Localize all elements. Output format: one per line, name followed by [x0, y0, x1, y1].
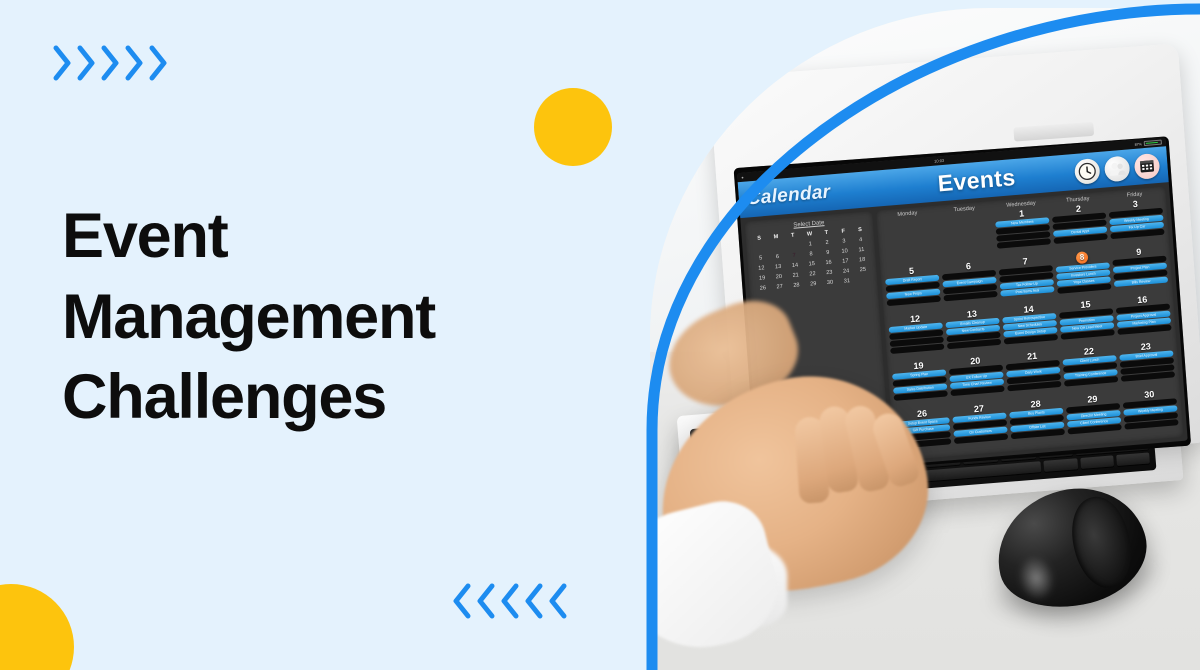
chevron-right-icon: [124, 44, 146, 82]
mini-calendar-dow: S: [751, 234, 768, 243]
chevron-left-icon: [476, 582, 498, 620]
day-cell[interactable]: 9Project PlanBills Review: [1112, 244, 1169, 294]
day-cell[interactable]: [938, 211, 995, 261]
day-cell[interactable]: 16Project ApprovalMarketing Plan: [1115, 292, 1172, 342]
people-icon[interactable]: [1104, 155, 1131, 182]
mini-calendar-day[interactable]: 15: [803, 260, 820, 269]
day-cell[interactable]: 23Brief Approval: [1119, 340, 1176, 390]
mini-calendar-blank: .: [768, 242, 785, 251]
page-title: Event Management Challenges: [62, 196, 582, 438]
weeks-container: 1New Members2Dental Appt3Weekly MeetingF…: [881, 197, 1179, 457]
mini-calendar-day[interactable]: 29: [805, 280, 822, 289]
chevron-left-group: [452, 582, 570, 620]
battery-label: 87%: [1135, 142, 1142, 147]
header-icon-group: [1074, 152, 1161, 184]
mini-calendar-day[interactable]: 10: [836, 247, 853, 256]
mini-calendar-day[interactable]: 24: [837, 267, 854, 276]
day-cell[interactable]: 12Market Update: [888, 311, 945, 361]
calendar-grid-icon[interactable]: [1134, 152, 1161, 179]
battery-icon: [1144, 140, 1162, 146]
chevron-right-icon: [100, 44, 122, 82]
mini-calendar-day[interactable]: 23: [821, 268, 838, 277]
day-cell[interactable]: 8Service ProvidersInvestors LunchYoga Cl…: [1055, 249, 1112, 299]
mini-calendar-day[interactable]: 8: [802, 250, 819, 259]
day-cell[interactable]: 14Sprint RetrospectiveNew SchedulesEvent…: [1001, 302, 1058, 352]
chevron-right-icon: [76, 44, 98, 82]
day-cell[interactable]: 21Daily Work: [1005, 349, 1062, 399]
mini-calendar-day[interactable]: 18: [854, 255, 871, 264]
mini-calendar-dow: F: [835, 227, 852, 236]
decorative-circle-top: [534, 88, 612, 166]
day-cell[interactable]: 3Weekly MeetingFix Up Car: [1108, 197, 1165, 247]
app-title-calendar: Calendar: [746, 177, 879, 210]
mini-calendar-dow: W: [801, 230, 818, 239]
mini-calendar-day[interactable]: 13: [770, 262, 787, 271]
day-cell[interactable]: 2Dental Appt: [1051, 202, 1108, 252]
mini-calendar-day[interactable]: 11: [853, 245, 870, 254]
day-cell[interactable]: 7Tax Follow UpPost Items Assi: [998, 254, 1055, 304]
mini-calendar-day[interactable]: 25: [854, 265, 871, 274]
mini-calendar-day[interactable]: 31: [838, 277, 855, 286]
day-cell[interactable]: 22Client LunchTraining Conference: [1062, 345, 1119, 395]
fingers: [790, 398, 941, 549]
chevron-right-icon: [148, 44, 170, 82]
mini-calendar-day[interactable]: 7: [786, 251, 803, 260]
chevron-right-icon: [52, 44, 74, 82]
mini-calendar-blank: .: [785, 241, 802, 250]
mini-calendar-dow: M: [767, 232, 784, 241]
photo-frame: ● 10:03 87% Calendar Events: [650, 8, 1200, 670]
mini-calendar-day[interactable]: 5: [752, 254, 769, 263]
headline-line-2: Management: [62, 277, 582, 358]
mini-calendar-day[interactable]: 16: [820, 258, 837, 267]
mini-calendar-dow: T: [784, 231, 801, 240]
status-left-dot: ●: [741, 175, 744, 180]
slide-canvas: Event Management Challenges: [0, 0, 1200, 670]
events-grid-panel: MondayTuesdayWednesdayThursdayFriday 1Ne…: [876, 186, 1183, 461]
chevron-right-group: [52, 44, 170, 82]
mini-calendar-dow: S: [851, 225, 868, 234]
mini-calendar-day[interactable]: 12: [753, 264, 770, 273]
mini-calendar-day[interactable]: 27: [771, 282, 788, 291]
mini-calendar-day[interactable]: 14: [786, 261, 803, 270]
mini-calendar-day[interactable]: 4: [852, 235, 869, 244]
mini-calendar-day[interactable]: 21: [787, 271, 804, 280]
mini-calendar-day[interactable]: 30: [821, 278, 838, 287]
day-cell[interactable]: 30Weekly Meeting: [1122, 387, 1179, 437]
headline-line-3: Challenges: [62, 357, 582, 438]
day-cell[interactable]: 15PromotionNew QA Lead Meet: [1058, 297, 1115, 347]
headline-line-1: Event: [62, 196, 582, 277]
mini-calendar-day[interactable]: 2: [818, 238, 835, 247]
hero-image-panel: ● 10:03 87% Calendar Events: [628, 0, 1200, 670]
mini-calendar-day[interactable]: 19: [753, 274, 770, 283]
day-cell[interactable]: 27Funds ReviewOn Customers: [952, 402, 1009, 452]
status-clock: 10:03: [934, 158, 944, 164]
day-cell[interactable]: 28Buy PlantsOffsite List: [1008, 397, 1065, 447]
clock-icon[interactable]: [1074, 157, 1101, 184]
day-cell[interactable]: 6Event Campaign: [941, 259, 998, 309]
chevron-left-icon: [548, 582, 570, 620]
mini-calendar-day[interactable]: 20: [770, 272, 787, 281]
mini-calendar-day[interactable]: 17: [837, 257, 854, 266]
mini-calendar-day[interactable]: 9: [819, 248, 836, 257]
day-cell[interactable]: 5Draft ReportNew Props: [884, 264, 941, 314]
mini-calendar-day[interactable]: 22: [804, 270, 821, 279]
day-cell[interactable]: 29Director MeetingClient Conference: [1065, 392, 1122, 442]
mini-calendar-day[interactable]: 3: [835, 237, 852, 246]
mini-calendar-blank: .: [751, 244, 768, 253]
mini-calendar-dow: T: [818, 228, 835, 237]
mini-calendar-day[interactable]: 1: [802, 240, 819, 249]
day-cell[interactable]: 1New Members: [994, 206, 1051, 256]
mini-calendar-day[interactable]: 26: [754, 284, 771, 293]
chevron-left-icon: [500, 582, 522, 620]
mini-calendar-day[interactable]: 28: [788, 281, 805, 290]
chevron-left-icon: [452, 582, 474, 620]
mini-calendar-day[interactable]: 6: [769, 252, 786, 261]
day-cell[interactable]: 13Emails CleanupNew Contracts: [945, 306, 1002, 356]
day-cell[interactable]: 20UX Follow UpTime Chart Review: [948, 354, 1005, 404]
office-scene: ● 10:03 87% Calendar Events: [650, 8, 1200, 670]
day-cell[interactable]: [881, 216, 938, 266]
chevron-left-icon: [524, 582, 546, 620]
decorative-circle-bottom: [0, 584, 74, 670]
